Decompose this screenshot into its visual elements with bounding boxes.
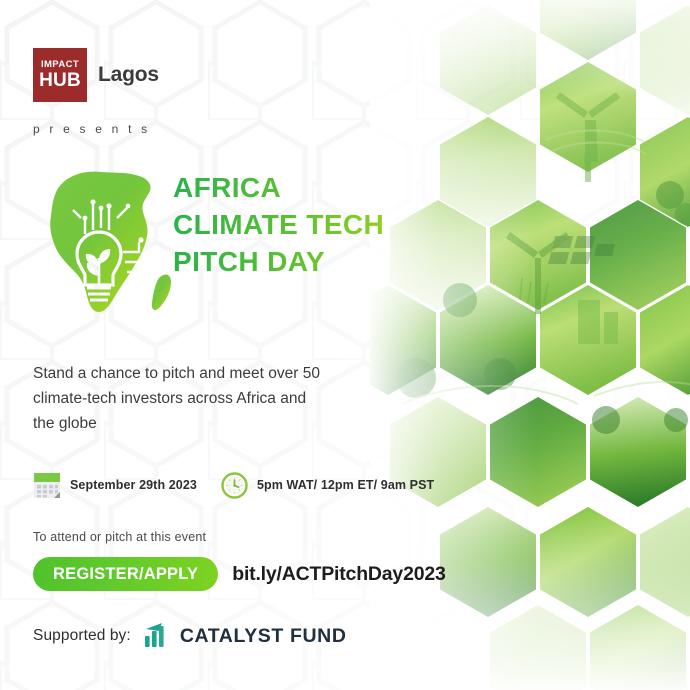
event-date-text: September 29th 2023 bbox=[70, 478, 197, 492]
catalyst-fund-name: CATALYST FUND bbox=[180, 625, 347, 648]
register-apply-button[interactable]: REGISTER/APPLY bbox=[33, 557, 218, 591]
impact-hub-city-label: Lagos bbox=[98, 63, 159, 87]
supporter-label: Supported by: bbox=[33, 627, 131, 645]
clock-icon bbox=[221, 472, 248, 499]
event-description-line-1: Stand a chance to pitch and meet over 50 bbox=[33, 361, 405, 386]
event-poster: IMPACT HUB Lagos p r e s e n t s bbox=[0, 0, 690, 690]
event-title-line-1: AFRICA bbox=[173, 170, 503, 207]
impact-hub-logo-impact-text: IMPACT bbox=[41, 60, 79, 70]
hero-section: AFRICA CLIMATE TECH PITCH DAY bbox=[33, 160, 470, 325]
event-time-text: 5pm WAT/ 12pm ET/ 9am PST bbox=[257, 478, 434, 492]
event-title-line-2: CLIMATE TECH bbox=[173, 207, 503, 244]
cta-caption: To attend or pitch at this event bbox=[33, 530, 470, 544]
presents-label: p r e s e n t s bbox=[33, 122, 470, 136]
registration-url-link[interactable]: bit.ly/ACTPitchDay2023 bbox=[232, 563, 445, 586]
event-meta-row: September 29th 2023 5pm WAT/ 12pm ET/ 9a… bbox=[33, 470, 470, 500]
cta-row: REGISTER/APPLY bit.ly/ACTPitchDay2023 bbox=[33, 557, 470, 591]
event-description-line-3: the globe bbox=[33, 411, 405, 436]
brand-lockup: IMPACT HUB Lagos bbox=[33, 48, 470, 102]
africa-map-with-lightbulb-plant-circuit-icon bbox=[31, 160, 179, 320]
catalyst-fund-lockup: CATALYST FUND bbox=[144, 623, 347, 649]
impact-hub-logo-hub-text: HUB bbox=[39, 71, 81, 90]
event-time: 5pm WAT/ 12pm ET/ 9am PST bbox=[221, 472, 434, 499]
supporter-row: Supported by: CATALYST FUND bbox=[33, 623, 470, 649]
event-description-line-2: climate-tech investors across Africa and bbox=[33, 386, 405, 411]
catalyst-fund-chart-icon bbox=[144, 623, 171, 649]
event-title-line-3: PITCH DAY bbox=[173, 244, 503, 281]
poster-content: IMPACT HUB Lagos p r e s e n t s bbox=[0, 0, 470, 690]
event-description: Stand a chance to pitch and meet over 50… bbox=[33, 361, 405, 436]
event-title: AFRICA CLIMATE TECH PITCH DAY bbox=[173, 170, 503, 281]
calendar-icon bbox=[33, 470, 61, 500]
event-date: September 29th 2023 bbox=[33, 470, 197, 500]
impact-hub-logo: IMPACT HUB bbox=[33, 48, 87, 102]
